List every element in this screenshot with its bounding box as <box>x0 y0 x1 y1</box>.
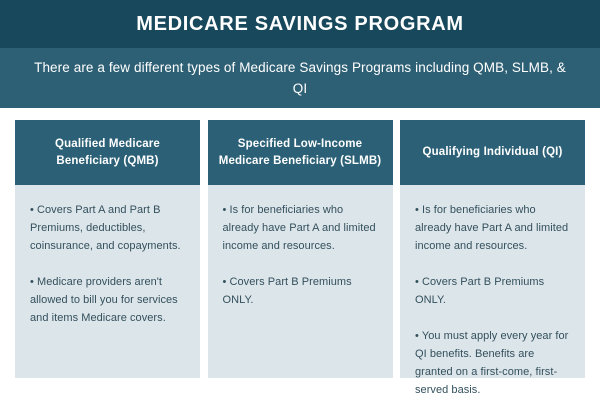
card-title-slmb: Specified Low-Income Medicare Beneficiar… <box>216 136 385 170</box>
card-header-slmb: Specified Low-Income Medicare Beneficiar… <box>208 120 393 185</box>
bullet-text: Covers Part B Premiums ONLY. <box>223 276 352 306</box>
card-header-qmb: Qualified Medicare Beneficiary (QMB) <box>15 120 200 185</box>
subtitle-band: There are a few different types of Medic… <box>0 48 600 108</box>
title-band: MEDICARE SAVINGS PROGRAM <box>0 0 600 48</box>
program-cards-row: Qualified Medicare Beneficiary (QMB) • C… <box>15 120 585 378</box>
bullet-text: You must apply every year for QI benefit… <box>415 330 568 396</box>
bullet-text: Covers Part B Premiums ONLY. <box>415 276 544 306</box>
bullet-item: • Is for beneficiaries who already have … <box>223 201 378 255</box>
bullet-item: • You must apply every year for QI benef… <box>415 327 570 399</box>
bullet-item: • Covers Part B Premiums ONLY. <box>223 273 378 309</box>
bullet-dot-icon: • <box>30 276 34 288</box>
bullet-dot-icon: • <box>30 204 34 216</box>
bullet-dot-icon: • <box>223 276 227 288</box>
card-body-slmb: • Is for beneficiaries who already have … <box>208 185 393 378</box>
bullet-text: Covers Part A and Part B Premiums, deduc… <box>30 204 181 252</box>
medicare-savings-program-infographic: MEDICARE SAVINGS PROGRAM There are a few… <box>0 0 600 400</box>
card-header-qi: Qualifying Individual (QI) <box>400 120 585 185</box>
card-title-qmb: Qualified Medicare Beneficiary (QMB) <box>23 136 192 170</box>
bullet-text: Medicare providers aren't allowed to bil… <box>30 276 178 324</box>
bullet-text: Is for beneficiaries who already have Pa… <box>415 204 568 252</box>
card-body-qi: • Is for beneficiaries who already have … <box>400 185 585 409</box>
card-title-qi: Qualifying Individual (QI) <box>423 144 563 161</box>
bullet-dot-icon: • <box>415 330 419 342</box>
bullet-item: • Covers Part B Premiums ONLY. <box>415 273 570 309</box>
page-title: MEDICARE SAVINGS PROGRAM <box>136 14 464 34</box>
page-subtitle: There are a few different types of Medic… <box>0 57 600 99</box>
program-card-slmb: Specified Low-Income Medicare Beneficiar… <box>208 120 393 378</box>
bullet-item: • Covers Part A and Part B Premiums, ded… <box>30 201 185 255</box>
bullet-dot-icon: • <box>223 204 227 216</box>
bullet-item: • Is for beneficiaries who already have … <box>415 201 570 255</box>
program-card-qi: Qualifying Individual (QI) • Is for bene… <box>400 120 585 378</box>
bullet-dot-icon: • <box>415 204 419 216</box>
program-card-qmb: Qualified Medicare Beneficiary (QMB) • C… <box>15 120 200 378</box>
card-body-qmb: • Covers Part A and Part B Premiums, ded… <box>15 185 200 378</box>
bullet-item: • Medicare providers aren't allowed to b… <box>30 273 185 327</box>
bullet-text: Is for beneficiaries who already have Pa… <box>223 204 376 252</box>
bullet-dot-icon: • <box>415 276 419 288</box>
